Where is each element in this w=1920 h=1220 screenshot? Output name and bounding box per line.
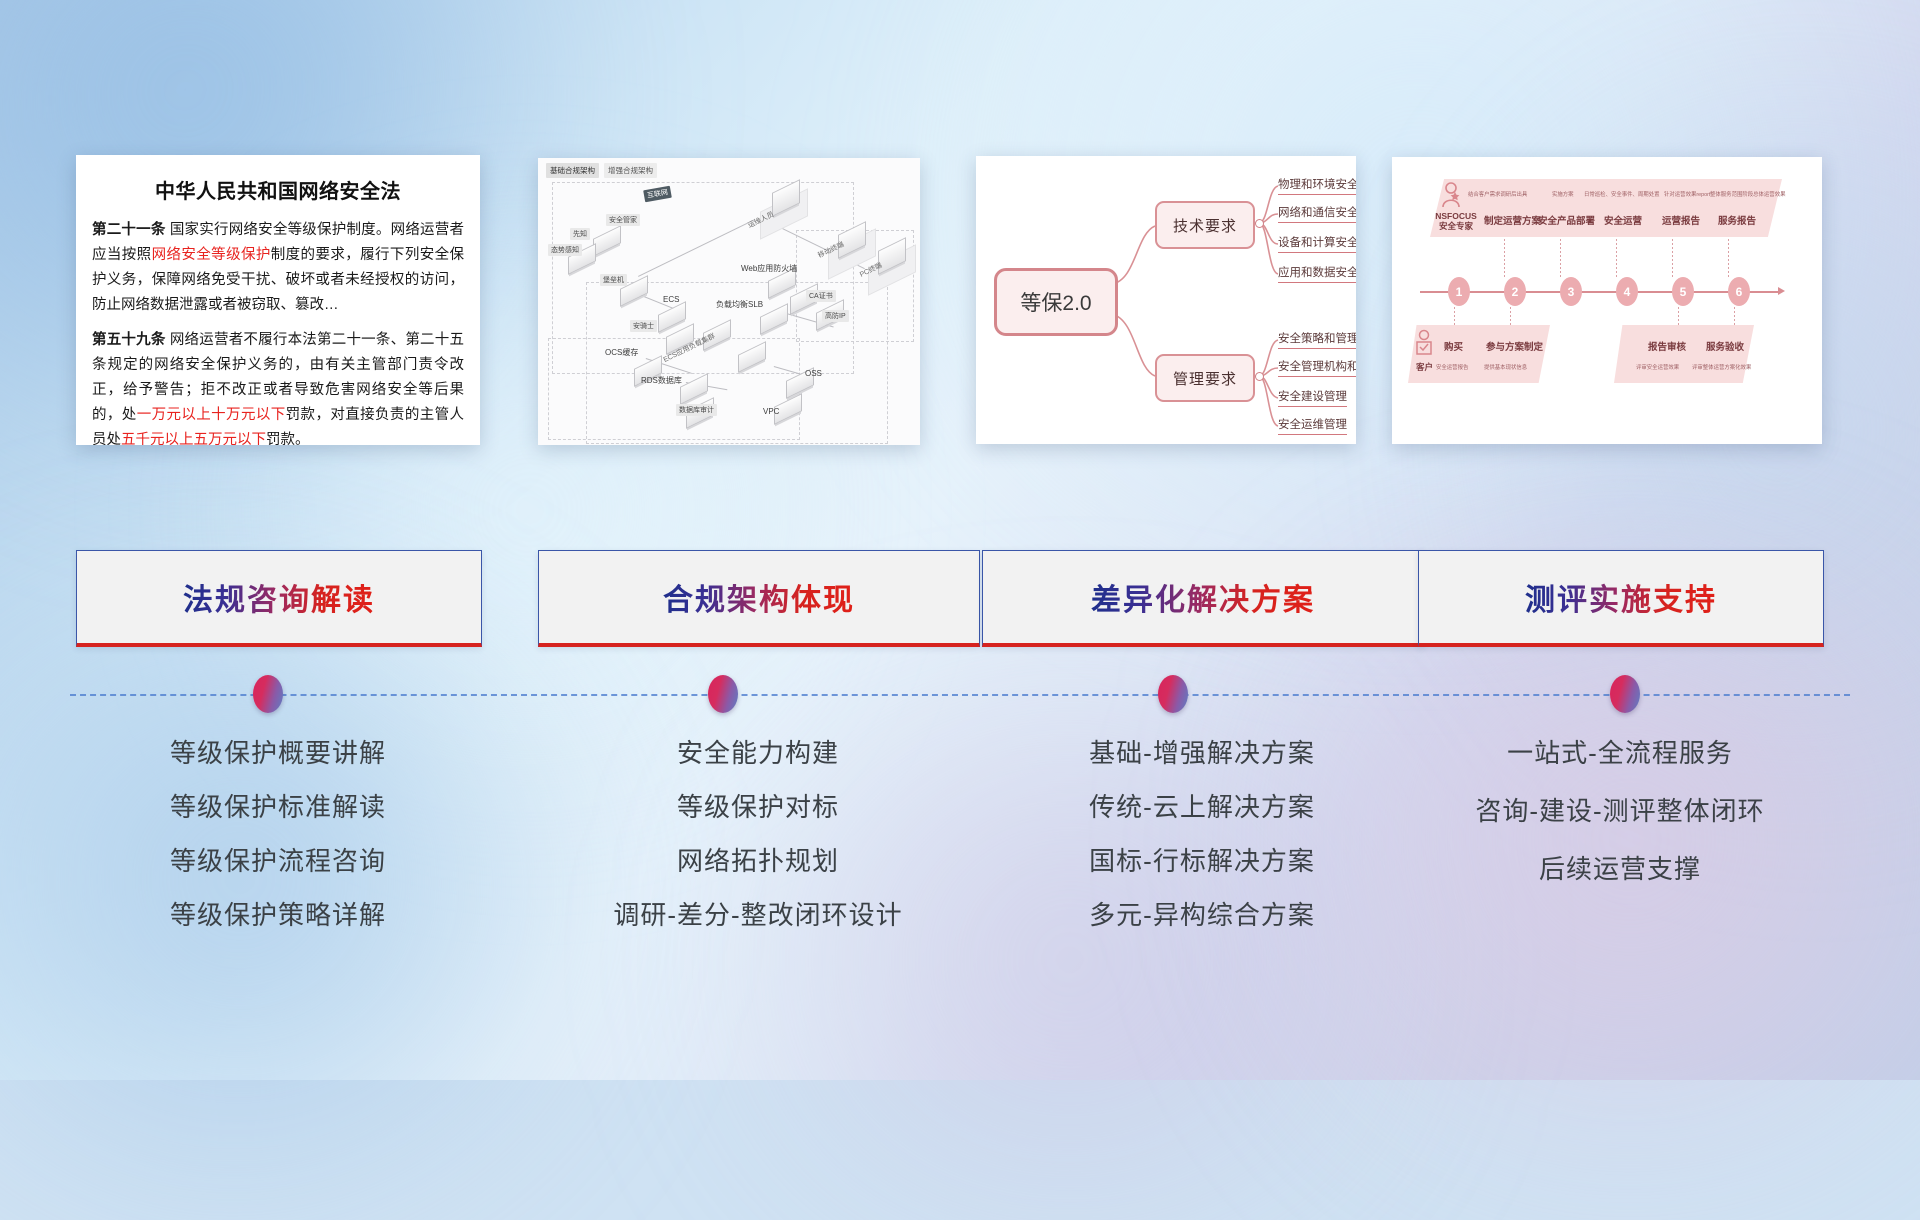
list-item: 等级保护策略详解 (76, 902, 480, 928)
list-item: 安全能力构建 (538, 740, 978, 766)
list-item: 调研-差分-整改闭环设计 (538, 902, 978, 928)
timeline-dot-2[interactable] (708, 675, 738, 713)
headline-text-4: 测评实施支持 (1525, 575, 1717, 619)
headline-box-4[interactable]: 测评实施支持 (1418, 550, 1824, 647)
timeline-dot-4[interactable] (1610, 675, 1640, 713)
list-item: 多元-异构综合方案 (982, 902, 1422, 928)
headline-text-2: 合规架构体现 (663, 575, 855, 619)
timeline-dashed-line (70, 694, 1850, 696)
list-item: 等级保护标准解读 (76, 794, 480, 820)
bullet-column-4: 一站式-全流程服务 咨询-建设-测评整体闭环 后续运营支撑 (1418, 740, 1822, 914)
list-item: 等级保护概要讲解 (76, 740, 480, 766)
bullet-column-3: 基础-增强解决方案 传统-云上解决方案 国标-行标解决方案 多元-异构综合方案 (982, 740, 1422, 956)
headline-text-3: 差异化解决方案 (1091, 575, 1315, 619)
timeline-dot-3[interactable] (1158, 675, 1188, 713)
bullet-column-2: 安全能力构建 等级保护对标 网络拓扑规划 调研-差分-整改闭环设计 (538, 740, 978, 956)
list-item: 传统-云上解决方案 (982, 794, 1422, 820)
list-item: 一站式-全流程服务 (1418, 740, 1822, 766)
headline-box-3[interactable]: 差异化解决方案 (982, 550, 1424, 647)
list-item: 后续运营支撑 (1418, 856, 1822, 882)
list-item: 等级保护流程咨询 (76, 848, 480, 874)
list-item: 基础-增强解决方案 (982, 740, 1422, 766)
list-item: 网络拓扑规划 (538, 848, 978, 874)
list-item: 等级保护对标 (538, 794, 978, 820)
headline-box-2[interactable]: 合规架构体现 (538, 550, 980, 647)
headline-box-1[interactable]: 法规咨询解读 (76, 550, 482, 647)
list-item: 国标-行标解决方案 (982, 848, 1422, 874)
timeline-dot-1[interactable] (253, 675, 283, 713)
list-item: 咨询-建设-测评整体闭环 (1418, 798, 1822, 824)
bullet-column-1: 等级保护概要讲解 等级保护标准解读 等级保护流程咨询 等级保护策略详解 (76, 740, 480, 956)
headline-text-1: 法规咨询解读 (183, 575, 375, 619)
